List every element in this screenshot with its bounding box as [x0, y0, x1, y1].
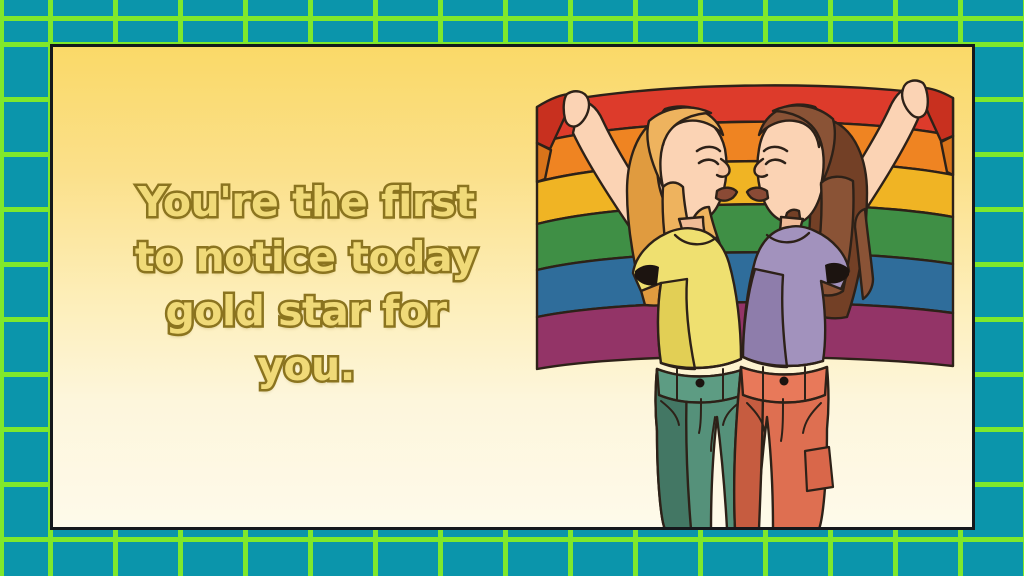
pride-couple-illustration — [515, 51, 975, 529]
meme-caption-text: You're the first to notice today gold st… — [81, 175, 531, 393]
meme-card: You're the first to notice today gold st… — [50, 44, 975, 530]
